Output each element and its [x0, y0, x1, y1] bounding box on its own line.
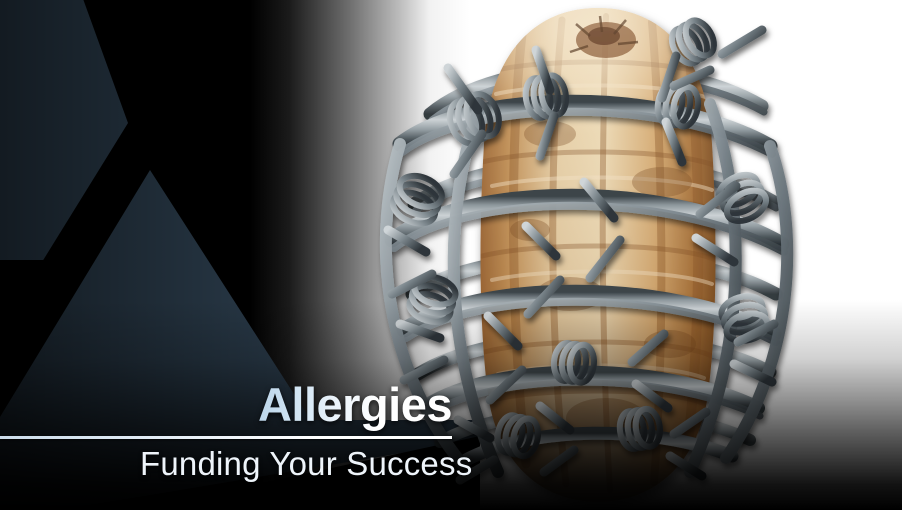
title-divider-rule [0, 436, 452, 439]
page-subtitle: Funding Your Success [140, 442, 472, 486]
page-title: Allergies [258, 378, 452, 432]
allergies-banner: Allergies Funding Your Success [0, 0, 902, 510]
headline-block: Allergies Funding Your Success [0, 378, 470, 488]
